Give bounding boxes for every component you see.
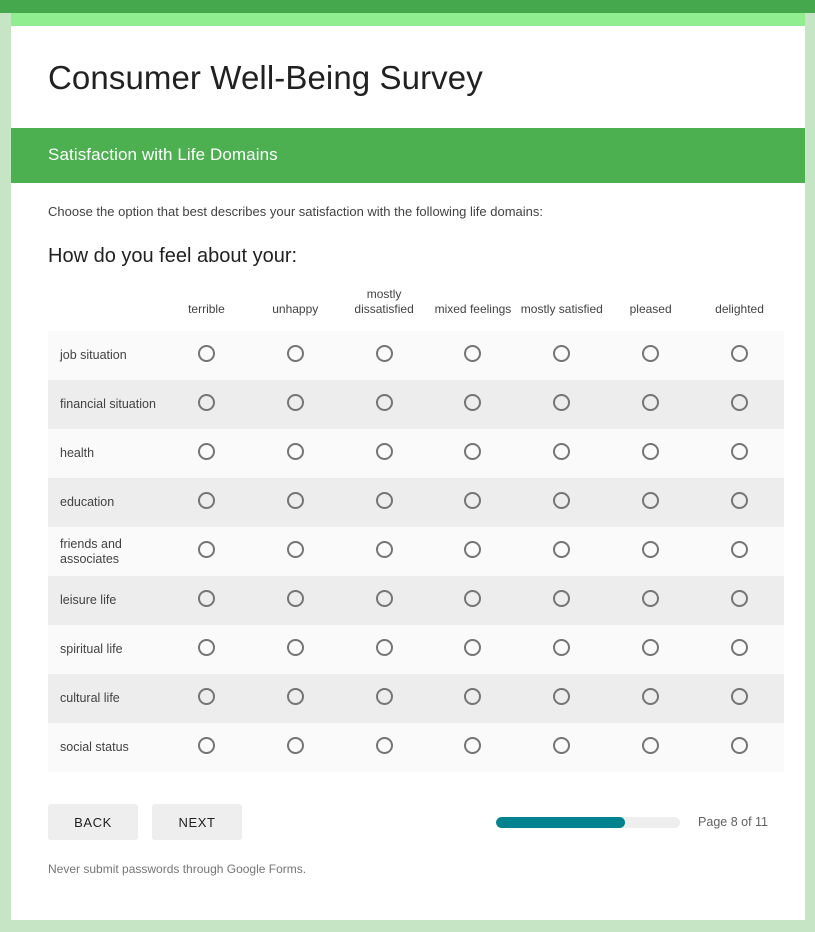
radio-button[interactable]: [731, 590, 748, 607]
card-bottom-padding: [11, 876, 805, 920]
radio-button[interactable]: [287, 394, 304, 411]
radio-button[interactable]: [464, 394, 481, 411]
grid-column-header: mixed feelings: [429, 281, 518, 331]
grid-cell[interactable]: [695, 331, 784, 380]
grid-cell[interactable]: [162, 331, 251, 380]
radio-button[interactable]: [376, 688, 393, 705]
radio-button[interactable]: [464, 345, 481, 362]
grid-cell[interactable]: [340, 527, 429, 576]
radio-button[interactable]: [198, 639, 215, 656]
next-button[interactable]: NEXT: [152, 804, 242, 840]
grid-cell[interactable]: [429, 380, 518, 429]
radio-button[interactable]: [642, 345, 659, 362]
grid-cell[interactable]: [429, 429, 518, 478]
grid-cell[interactable]: [251, 674, 340, 723]
grid-cell[interactable]: [251, 380, 340, 429]
grid-column-header: delighted: [695, 281, 784, 331]
grid-row: leisure life: [48, 576, 784, 625]
grid-header-row: terribleunhappymostly dissatisfiedmixed …: [48, 281, 784, 331]
grid-cell[interactable]: [162, 625, 251, 674]
radio-button[interactable]: [642, 688, 659, 705]
grid-row: cultural life: [48, 674, 784, 723]
grid-row-label: friends and associates: [48, 527, 162, 576]
radio-button[interactable]: [198, 541, 215, 558]
form-card: Consumer Well-Being Survey Satisfaction …: [11, 26, 805, 920]
radio-button[interactable]: [553, 590, 570, 607]
grid-row-label: health: [48, 429, 162, 478]
grid-cell[interactable]: [162, 576, 251, 625]
grid-cell[interactable]: [429, 625, 518, 674]
grid-cell[interactable]: [340, 478, 429, 527]
radio-button[interactable]: [376, 737, 393, 754]
section-description: Choose the option that best describes yo…: [48, 203, 768, 221]
grid-cell[interactable]: [695, 527, 784, 576]
radio-button[interactable]: [553, 639, 570, 656]
grid-row: education: [48, 478, 784, 527]
question-title: How do you feel about your:: [48, 243, 768, 269]
section-header-band: Satisfaction with Life Domains: [11, 128, 805, 183]
grid-column-header: mostly satisfied: [517, 281, 606, 331]
radio-button[interactable]: [198, 590, 215, 607]
grid-cell[interactable]: [517, 380, 606, 429]
grid-cell[interactable]: [162, 429, 251, 478]
grid-cell[interactable]: [251, 527, 340, 576]
radio-button[interactable]: [553, 443, 570, 460]
progress-area: Page 8 of 11: [496, 815, 768, 829]
grid-row: health: [48, 429, 784, 478]
progress-bar-track: [496, 817, 680, 828]
form-footer: BACK NEXT Page 8 of 11: [11, 772, 805, 842]
grid-cell[interactable]: [606, 674, 695, 723]
grid-cell[interactable]: [695, 380, 784, 429]
radio-button[interactable]: [731, 737, 748, 754]
grid-cell[interactable]: [606, 625, 695, 674]
grid-row-label: cultural life: [48, 674, 162, 723]
section-title: Satisfaction with Life Domains: [48, 144, 768, 166]
radio-button[interactable]: [287, 541, 304, 558]
grid-cell[interactable]: [162, 478, 251, 527]
grid-cell[interactable]: [606, 331, 695, 380]
radio-button[interactable]: [642, 590, 659, 607]
radio-button[interactable]: [642, 737, 659, 754]
grid-column-header: unhappy: [251, 281, 340, 331]
radio-button[interactable]: [553, 737, 570, 754]
grid-cell[interactable]: [517, 478, 606, 527]
grid-cell[interactable]: [606, 429, 695, 478]
radio-button[interactable]: [642, 443, 659, 460]
radio-button[interactable]: [464, 443, 481, 460]
satisfaction-grid: terribleunhappymostly dissatisfiedmixed …: [48, 281, 784, 772]
grid-cell[interactable]: [429, 478, 518, 527]
grid-cell[interactable]: [340, 674, 429, 723]
radio-button[interactable]: [464, 737, 481, 754]
radio-button[interactable]: [731, 492, 748, 509]
page-title: Consumer Well-Being Survey: [48, 58, 768, 98]
grid-cell[interactable]: [251, 331, 340, 380]
grid-row-label: social status: [48, 723, 162, 772]
grid-cell[interactable]: [340, 625, 429, 674]
grid-cell[interactable]: [429, 527, 518, 576]
top-green-band: [0, 0, 815, 13]
footer-controls: BACK NEXT Page 8 of 11: [48, 802, 768, 842]
radio-button[interactable]: [553, 541, 570, 558]
grid-cell[interactable]: [429, 723, 518, 772]
radio-button[interactable]: [287, 639, 304, 656]
grid-row-label: financial situation: [48, 380, 162, 429]
grid-cell[interactable]: [606, 380, 695, 429]
radio-button[interactable]: [376, 443, 393, 460]
radio-button[interactable]: [376, 541, 393, 558]
grid-row: social status: [48, 723, 784, 772]
radio-button[interactable]: [731, 541, 748, 558]
radio-button[interactable]: [731, 394, 748, 411]
radio-button[interactable]: [287, 492, 304, 509]
grid-cell[interactable]: [251, 625, 340, 674]
grid-row-label: job situation: [48, 331, 162, 380]
grid-cell[interactable]: [162, 527, 251, 576]
grid-cell[interactable]: [517, 674, 606, 723]
grid-cell[interactable]: [429, 331, 518, 380]
radio-button[interactable]: [731, 639, 748, 656]
grid-cell[interactable]: [251, 576, 340, 625]
radio-button[interactable]: [198, 345, 215, 362]
radio-button[interactable]: [642, 541, 659, 558]
grid-cell[interactable]: [695, 625, 784, 674]
radio-button[interactable]: [287, 688, 304, 705]
radio-button[interactable]: [198, 394, 215, 411]
radio-button[interactable]: [642, 639, 659, 656]
radio-button[interactable]: [731, 345, 748, 362]
grid-cell[interactable]: [162, 380, 251, 429]
grid-cell[interactable]: [340, 429, 429, 478]
radio-button[interactable]: [287, 737, 304, 754]
grid-cell[interactable]: [695, 723, 784, 772]
radio-button[interactable]: [731, 688, 748, 705]
grid-row-label: education: [48, 478, 162, 527]
radio-button[interactable]: [287, 345, 304, 362]
grid-cell[interactable]: [429, 576, 518, 625]
grid-cell[interactable]: [251, 429, 340, 478]
radio-button[interactable]: [642, 394, 659, 411]
radio-button[interactable]: [553, 394, 570, 411]
grid-cell[interactable]: [162, 674, 251, 723]
radio-button[interactable]: [642, 492, 659, 509]
grid-row: spiritual life: [48, 625, 784, 674]
radio-button[interactable]: [464, 590, 481, 607]
grid-cell[interactable]: [429, 674, 518, 723]
radio-button[interactable]: [464, 639, 481, 656]
grid-cell[interactable]: [251, 478, 340, 527]
radio-button[interactable]: [198, 688, 215, 705]
radio-button[interactable]: [198, 737, 215, 754]
radio-button[interactable]: [376, 492, 393, 509]
radio-button[interactable]: [198, 492, 215, 509]
grid-cell[interactable]: [695, 478, 784, 527]
grid-row: friends and associates: [48, 527, 784, 576]
password-disclaimer: Never submit passwords through Google Fo…: [11, 842, 805, 876]
radio-button[interactable]: [376, 345, 393, 362]
grid-cell[interactable]: [695, 674, 784, 723]
grid-row-label: spiritual life: [48, 625, 162, 674]
radio-button[interactable]: [464, 541, 481, 558]
grid-cell[interactable]: [606, 527, 695, 576]
page-indicator: Page 8 of 11: [698, 815, 768, 829]
radio-button[interactable]: [553, 688, 570, 705]
grid-head: terribleunhappymostly dissatisfiedmixed …: [48, 281, 784, 331]
progress-bar-fill: [496, 817, 625, 828]
radio-button[interactable]: [376, 590, 393, 607]
grid-corner-cell: [48, 281, 162, 331]
grid-cell[interactable]: [695, 429, 784, 478]
grid-cell[interactable]: [517, 723, 606, 772]
grid-cell[interactable]: [340, 576, 429, 625]
grid-cell[interactable]: [162, 723, 251, 772]
grid-column-header: terrible: [162, 281, 251, 331]
grid-cell[interactable]: [517, 576, 606, 625]
radio-button[interactable]: [376, 394, 393, 411]
grid-cell[interactable]: [340, 723, 429, 772]
grid-column-header: pleased: [606, 281, 695, 331]
radio-button[interactable]: [198, 443, 215, 460]
grid-cell[interactable]: [695, 576, 784, 625]
grid-cell[interactable]: [340, 380, 429, 429]
radio-button[interactable]: [287, 443, 304, 460]
grid-row: financial situation: [48, 380, 784, 429]
grid-cell[interactable]: [606, 576, 695, 625]
back-button[interactable]: BACK: [48, 804, 138, 840]
section-body: Choose the option that best describes yo…: [11, 183, 805, 772]
radio-button[interactable]: [376, 639, 393, 656]
radio-button[interactable]: [553, 492, 570, 509]
grid-row-label: leisure life: [48, 576, 162, 625]
grid-cell[interactable]: [251, 723, 340, 772]
grid-column-header: mostly dissatisfied: [340, 281, 429, 331]
form-header: Consumer Well-Being Survey: [11, 26, 805, 128]
grid-row: job situation: [48, 331, 784, 380]
grid-cell[interactable]: [606, 478, 695, 527]
radio-button[interactable]: [731, 443, 748, 460]
light-green-accent-strip: [11, 13, 805, 26]
radio-button[interactable]: [464, 492, 481, 509]
radio-button[interactable]: [464, 688, 481, 705]
grid-cell[interactable]: [517, 625, 606, 674]
grid-cell[interactable]: [340, 331, 429, 380]
grid-cell[interactable]: [517, 331, 606, 380]
grid-cell[interactable]: [606, 723, 695, 772]
radio-button[interactable]: [553, 345, 570, 362]
radio-button[interactable]: [287, 590, 304, 607]
grid-cell[interactable]: [517, 527, 606, 576]
grid-body: job situationfinancial situationhealthed…: [48, 331, 784, 772]
grid-cell[interactable]: [517, 429, 606, 478]
